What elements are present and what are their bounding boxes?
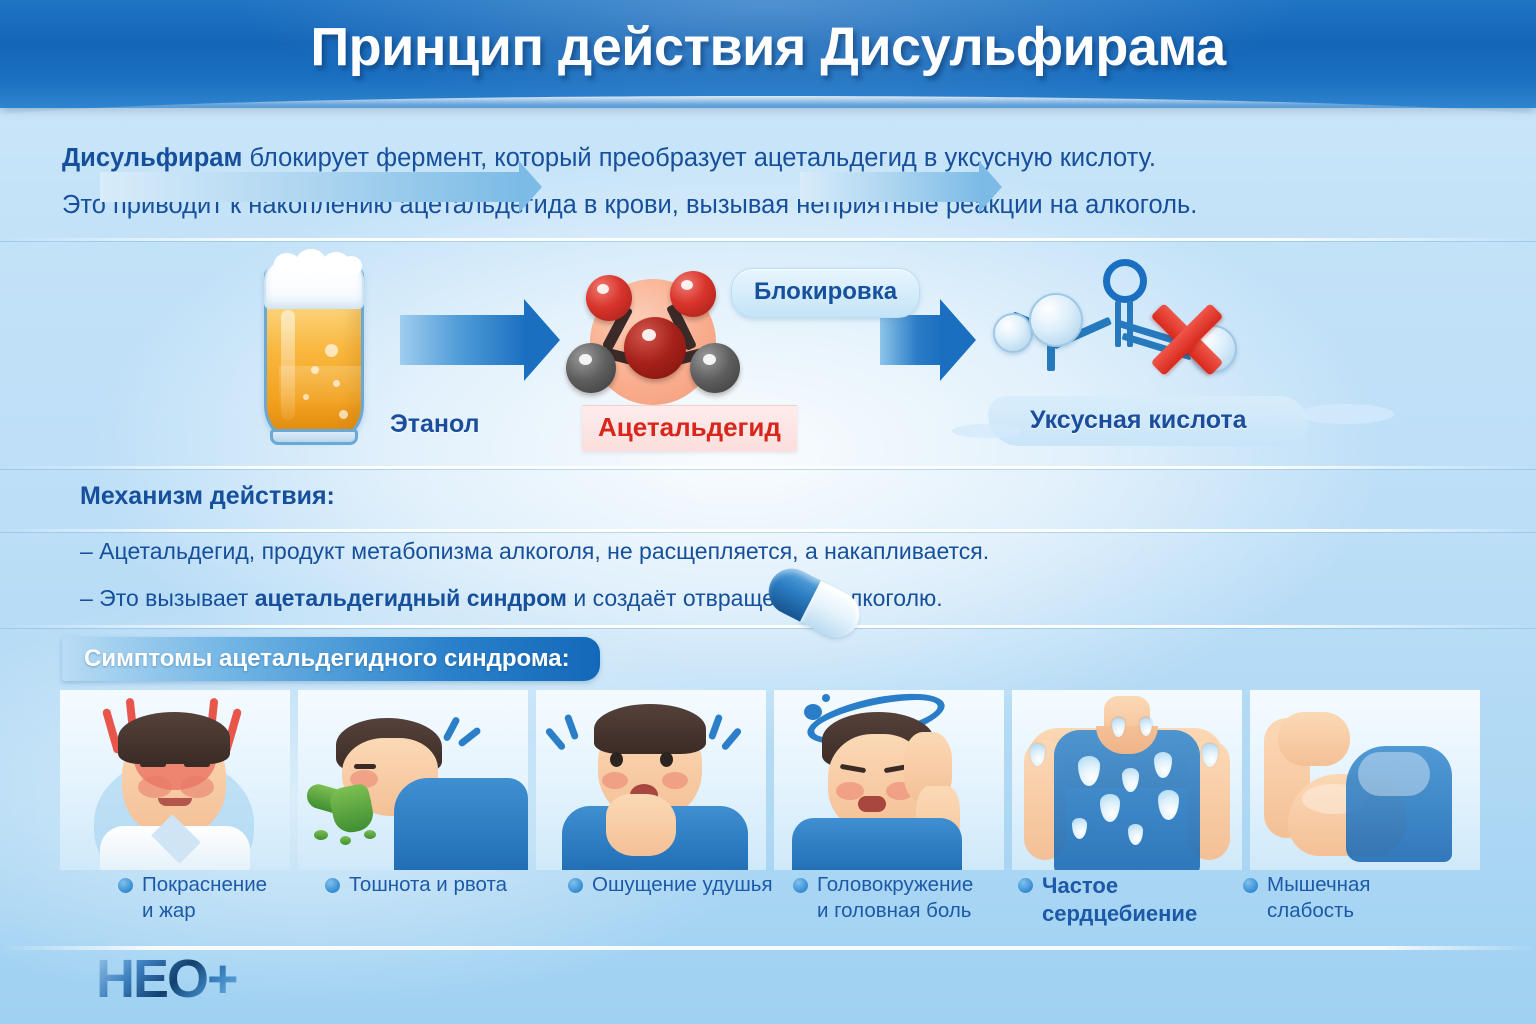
symptom-label-dizziness: Головокружениеи головная боль: [793, 872, 1008, 924]
choking-person-illustration: [536, 690, 766, 870]
symptom-label-nausea: Тошнота и рвота: [325, 872, 540, 898]
symptom-label-weakness-text: Мышечнаяслабость: [1267, 872, 1370, 924]
acetic-acid-label: Уксусная кислота: [1030, 406, 1247, 435]
puddle-splash-right: [1298, 404, 1394, 424]
symptom-label-suffocation: Ошущение удушья: [568, 872, 793, 898]
block-badge: Блокировка: [731, 268, 920, 318]
mechanism-item-2-dash: –: [80, 585, 93, 611]
arrow-acid-label: [800, 172, 980, 202]
mechanism-item-1: – Ацетальдегид, продукт метабопизма алко…: [80, 540, 1380, 563]
divider-mechanism-under-title: [0, 529, 1536, 532]
flushed-face-illustration: [60, 690, 290, 870]
symptom-label-nausea-text: Тошнота и рвота: [349, 872, 507, 898]
bullet-dot-icon: [118, 878, 133, 893]
mechanism-item-1-dash: –: [80, 538, 93, 564]
mechanism-item-2-pre: Это вызывает: [93, 585, 255, 611]
vomiting-person-illustration: [298, 690, 528, 870]
acetaldehyde-molecule-icon: [560, 261, 760, 421]
bullet-dot-icon: [793, 878, 808, 893]
ethanol-label: Этанол: [390, 410, 480, 439]
symptoms-illustration-row: [60, 690, 1480, 870]
dizzy-person-illustration: [774, 690, 1004, 870]
bullet-dot-icon: [568, 878, 583, 893]
arrow-to-acetic-acid: [880, 315, 942, 365]
mechanism-item-2-post: и создаёт отвращение к алкоголю.: [567, 585, 943, 611]
red-x-icon: [1145, 297, 1229, 381]
bullet-dot-icon: [1018, 878, 1033, 893]
brand-logo: НЕО+: [96, 952, 237, 1006]
symptom-label-dizziness-text: Головокружениеи головная боль: [817, 872, 973, 924]
mechanism-item-2: – Это вызывает ацетальдегидный синдром и…: [80, 587, 1380, 610]
divider-top: [0, 238, 1536, 241]
acetic-acid-structure-icon: [995, 255, 1285, 405]
bullet-dot-icon: [1243, 878, 1258, 893]
symptoms-label-row: Покраснениеи жар Тошнота и рвота Ошущени…: [0, 872, 1536, 950]
beer-glass-icon: [258, 253, 370, 443]
symptom-label-palpitations-text: Частоесердцебиение: [1042, 872, 1197, 928]
mechanism-item-2-bold: ацетальдегидный синдром: [255, 585, 567, 611]
divider-mechanism-top: [0, 466, 1536, 469]
mechanism-list: – Ацетальдегид, продукт метабопизма алко…: [80, 540, 1380, 634]
mechanism-title: Механизм действия:: [80, 482, 335, 511]
puddle-splash-left: [952, 424, 1022, 438]
symptoms-header-bar: Симптомы ацетальдегидного синдрома:: [62, 637, 600, 681]
symptom-label-redness: Покраснениеи жар: [118, 872, 318, 924]
page-title: Принцип действия Дисульфирама: [0, 16, 1536, 78]
symptom-label-palpitations: Частоесердцебиение: [1018, 872, 1228, 928]
bullet-dot-icon: [325, 878, 340, 893]
reaction-label-row: [0, 158, 1536, 214]
arrow-ethanol-to-acetaldehyde: [400, 315, 526, 365]
sweating-torso-illustration: [1012, 690, 1242, 870]
symptom-label-redness-text: Покраснениеи жар: [142, 872, 267, 924]
divider-symptoms-top: [0, 625, 1536, 628]
symptom-label-suffocation-text: Ошущение удушья: [592, 872, 773, 898]
acetaldehyde-label: Ацетальдегид: [582, 405, 797, 451]
arrow-ethanol-label: [100, 172, 520, 202]
flexed-arm-illustration: [1250, 690, 1480, 870]
mechanism-item-1-text: Ацетальдегид, продукт метабопизма алкого…: [93, 538, 989, 564]
symptom-label-weakness: Мышечнаяслабость: [1243, 872, 1443, 924]
infographic-page: Принцип действия Дисульфирама Дисульфира…: [0, 0, 1536, 1024]
